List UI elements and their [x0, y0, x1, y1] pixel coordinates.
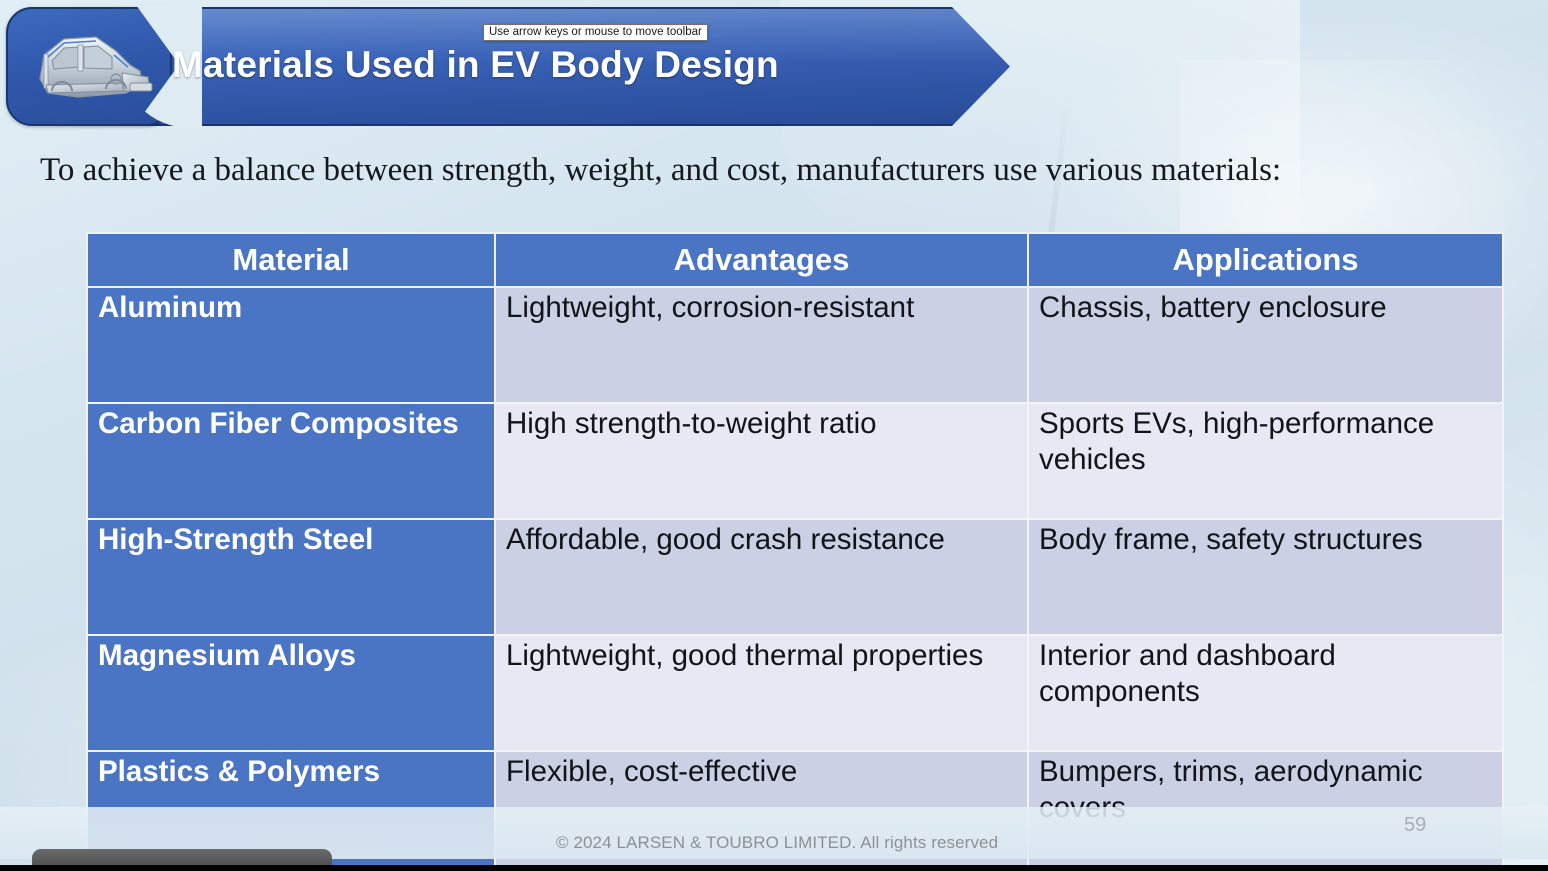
table-row: Carbon Fiber Composites High strength-to… — [87, 403, 1503, 519]
cell-advantages: Affordable, good crash resistance — [495, 519, 1028, 635]
cell-material: Magnesium Alloys — [87, 635, 495, 751]
column-header-advantages: Advantages — [495, 233, 1028, 287]
cell-material: Carbon Fiber Composites — [87, 403, 495, 519]
cell-advantages: Lightweight, corrosion-resistant — [495, 287, 1028, 403]
cell-material: Aluminum — [87, 287, 495, 403]
materials-table: Material Advantages Applications Aluminu… — [86, 232, 1504, 871]
cell-advantages: Lightweight, good thermal properties — [495, 635, 1028, 751]
intro-paragraph: To achieve a balance between strength, w… — [40, 152, 1510, 189]
cell-applications: Body frame, safety structures — [1028, 519, 1503, 635]
cell-applications: Interior and dashboard components — [1028, 635, 1503, 751]
floating-toolbar[interactable] — [32, 849, 332, 871]
column-header-material: Material — [87, 233, 495, 287]
table-row: High-Strength Steel Affordable, good cra… — [87, 519, 1503, 635]
column-header-applications: Applications — [1028, 233, 1503, 287]
toolbar-move-tooltip: Use arrow keys or mouse to move toolbar — [483, 24, 708, 41]
cell-material: High-Strength Steel — [87, 519, 495, 635]
table-row: Aluminum Lightweight, corrosion-resistan… — [87, 287, 1503, 403]
table-header-row: Material Advantages Applications — [87, 233, 1503, 287]
cell-applications: Sports EVs, high-performance vehicles — [1028, 403, 1503, 519]
copyright-notice: © 2024 LARSEN & TOUBRO LIMITED. All righ… — [556, 833, 998, 853]
banner-image-badge — [6, 7, 172, 126]
table-row: Magnesium Alloys Lightweight, good therm… — [87, 635, 1503, 751]
cell-applications: Chassis, battery enclosure — [1028, 287, 1503, 403]
slide-number: 59 — [1404, 814, 1426, 837]
presentation-slide: Materials Used in EV Body Design Use arr… — [0, 0, 1548, 871]
cell-advantages: High strength-to-weight ratio — [495, 403, 1028, 519]
car-body-frame-icon — [18, 21, 158, 113]
